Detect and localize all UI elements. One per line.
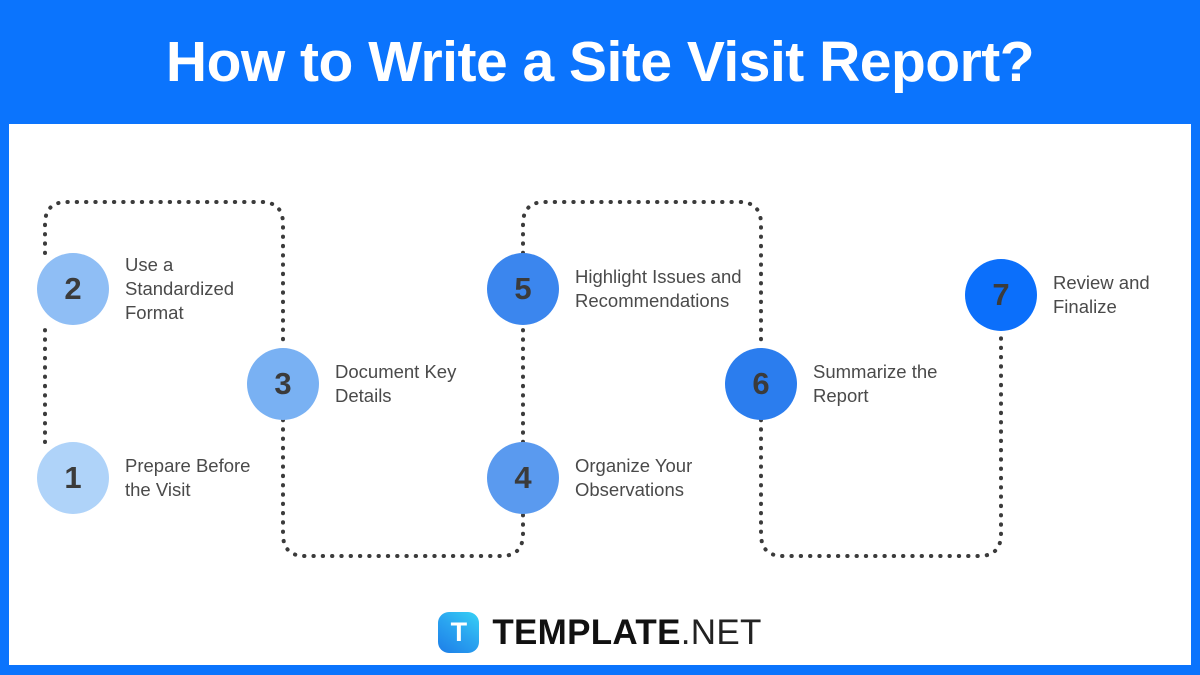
step-circle-4: 4: [487, 442, 559, 514]
step-circle-7: 7: [965, 259, 1037, 331]
template-net-logo-icon: T: [438, 612, 479, 653]
logo-letter: T: [451, 619, 468, 646]
step-number-1: 1: [64, 460, 81, 496]
infographic-page: How to Write a Site Visit Report? 1 Prep…: [0, 0, 1200, 675]
step-node-7[interactable]: 7 Review and Finalize: [965, 259, 1150, 331]
step-label-7: Review and Finalize: [1053, 271, 1150, 318]
step-circle-5: 5: [487, 253, 559, 325]
step-circle-2: 2: [37, 253, 109, 325]
diagram-canvas: 1 Prepare Before the Visit 2 Use a Stand…: [9, 124, 1191, 665]
step-node-5[interactable]: 5 Highlight Issues and Recommendations: [487, 253, 742, 325]
step-label-2: Use a Standardized Format: [125, 253, 234, 324]
page-title: How to Write a Site Visit Report?: [166, 29, 1034, 95]
step-number-3: 3: [274, 366, 291, 402]
step-label-4: Organize Your Observations: [575, 454, 692, 501]
header-band: How to Write a Site Visit Report?: [0, 0, 1200, 124]
step-label-1: Prepare Before the Visit: [125, 454, 250, 501]
step-circle-6: 6: [725, 348, 797, 420]
step-node-4[interactable]: 4 Organize Your Observations: [487, 442, 692, 514]
step-label-5: Highlight Issues and Recommendations: [575, 265, 742, 312]
step-label-3: Document Key Details: [335, 360, 456, 407]
step-circle-3: 3: [247, 348, 319, 420]
brand-logo-text: TEMPLATE.NET: [492, 615, 761, 650]
brand-logo[interactable]: T TEMPLATE.NET: [9, 612, 1191, 653]
step-number-2: 2: [64, 271, 81, 307]
step-node-3[interactable]: 3 Document Key Details: [247, 348, 456, 420]
step-label-6: Summarize the Report: [813, 360, 937, 407]
step-number-5: 5: [514, 271, 531, 307]
step-number-7: 7: [992, 277, 1009, 313]
step-node-2[interactable]: 2 Use a Standardized Format: [37, 253, 234, 325]
step-number-6: 6: [752, 366, 769, 402]
brand-name-tld: .NET: [681, 613, 762, 652]
step-node-1[interactable]: 1 Prepare Before the Visit: [37, 442, 250, 514]
step-circle-1: 1: [37, 442, 109, 514]
brand-name-bold: TEMPLATE: [492, 613, 680, 652]
step-node-6[interactable]: 6 Summarize the Report: [725, 348, 937, 420]
step-number-4: 4: [514, 460, 531, 496]
dotted-connector-path: [9, 124, 1191, 665]
